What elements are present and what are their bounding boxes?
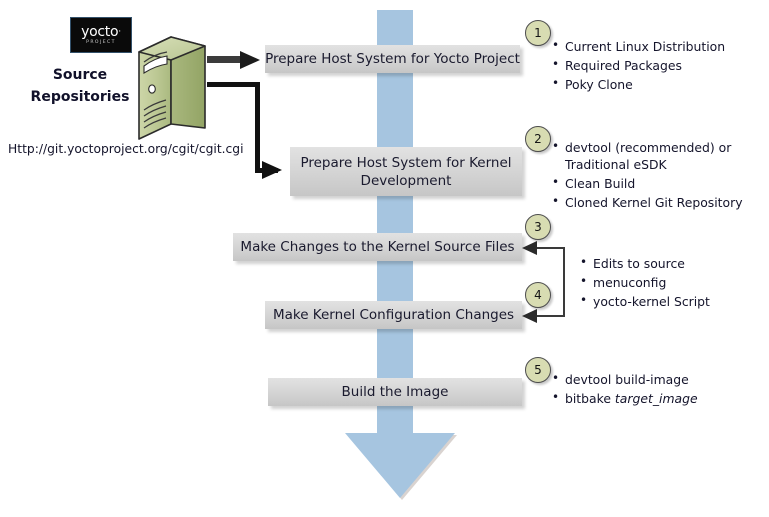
connector-server-to-step1 [207, 56, 242, 63]
list-item: Cloned Kernel Git Repository [552, 194, 752, 211]
step-number-badge-2-text: 2 [534, 132, 542, 146]
process-box-step2-label: Prepare Host System for Kernel Developme… [290, 154, 522, 190]
step-number-badge-1: 1 [525, 20, 551, 46]
process-box-step3-label: Make Changes to the Kernel Source Files [240, 238, 514, 256]
list-item: menuconfig [580, 274, 760, 291]
bracket-connector-top-segment [534, 247, 565, 249]
server-tower-icon [135, 32, 210, 142]
list-item: devtool build-image [552, 371, 752, 388]
process-box-step5[interactable]: Build the Image [268, 378, 522, 406]
list-item-text: bitbake [565, 391, 615, 406]
step-number-badge-5: 5 [525, 357, 551, 383]
process-box-step4[interactable]: Make Kernel Configuration Changes [265, 301, 522, 329]
flow-arrow-head [345, 433, 455, 498]
connector-server-to-step1-arrowhead [240, 51, 260, 69]
process-box-step5-label: Build the Image [342, 383, 449, 401]
step-number-badge-4-text: 4 [534, 288, 542, 302]
logo-submark: PROJECT [86, 40, 116, 46]
bracket-connector-bottom-segment [534, 315, 565, 317]
list-item-emphasis: target_image [615, 391, 698, 406]
list-item: Poky Clone [552, 76, 757, 93]
step-number-badge-4: 4 [525, 282, 551, 308]
step5-bullet-list: devtool build-image bitbake target_image [552, 371, 752, 409]
bracket-connector-top-arrowhead [522, 241, 537, 255]
source-label-line2: Repositories [25, 86, 135, 108]
logo-dot: · [118, 27, 121, 37]
process-box-step4-label: Make Kernel Configuration Changes [273, 306, 514, 324]
connector-server-to-step2-segment-top [207, 82, 260, 87]
logo-wordmark-text: yocto [81, 24, 118, 40]
connector-server-to-step2-arrowhead [262, 161, 282, 179]
step-number-badge-3-text: 3 [534, 220, 542, 234]
step1-bullet-list: Current Linux Distribution Required Pack… [552, 38, 757, 95]
list-item: Clean Build [552, 175, 752, 192]
list-item: yocto-kernel Script [580, 293, 760, 310]
flow-arrow-shaft [377, 10, 413, 435]
step3-step4-shared-bullet-list: Edits to source menuconfig yocto-kernel … [580, 255, 760, 312]
step2-bullet-list: devtool (recommended) or Traditional eSD… [552, 139, 752, 213]
list-item: Required Packages [552, 57, 757, 74]
process-box-step1[interactable]: Prepare Host System for Yocto Project [265, 45, 520, 73]
step-number-badge-2: 2 [525, 126, 551, 152]
process-box-step2[interactable]: Prepare Host System for Kernel Developme… [290, 147, 522, 196]
step-number-badge-1-text: 1 [534, 26, 542, 40]
source-repository-url: Http://git.yoctoproject.org/cgit/cgit.cg… [8, 142, 244, 156]
list-item: bitbake target_image [552, 390, 752, 407]
source-label-line1: Source [25, 64, 135, 86]
process-box-step1-label: Prepare Host System for Yocto Project [265, 50, 520, 68]
step-number-badge-5-text: 5 [534, 363, 542, 377]
bracket-connector-bottom-arrowhead [522, 309, 537, 323]
yocto-project-logo: yocto· PROJECT [70, 17, 132, 53]
process-box-step3[interactable]: Make Changes to the Kernel Source Files [233, 233, 522, 261]
connector-server-to-step2-segment-vertical [255, 82, 260, 171]
source-repositories-label: Source Repositories [25, 64, 135, 108]
bracket-connector-vertical [563, 247, 565, 317]
list-item: devtool (recommended) or Traditional eSD… [552, 139, 752, 173]
step-number-badge-3: 3 [525, 214, 551, 240]
list-item: Current Linux Distribution [552, 38, 757, 55]
diagram-canvas: yocto· PROJECT Source Repositories [0, 0, 769, 517]
logo-wordmark: yocto· [81, 25, 121, 39]
list-item: Edits to source [580, 255, 760, 272]
